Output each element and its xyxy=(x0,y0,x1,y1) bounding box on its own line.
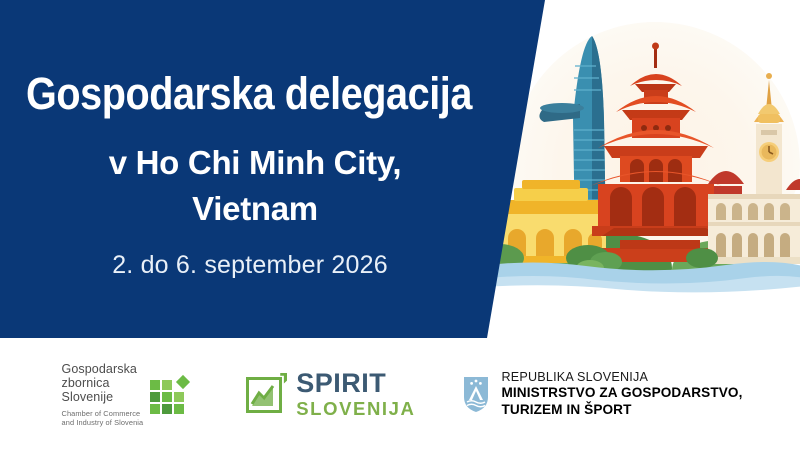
gzs-line-3: Slovenije xyxy=(62,390,144,404)
gzs-sub-2: and Industry of Slovenia xyxy=(62,418,144,427)
ministry-line-1: REPUBLIKA SLOVENIJA xyxy=(502,370,743,385)
ministry-line-3: TURIZEM IN ŠPORT xyxy=(502,402,743,419)
red-pagoda-icon xyxy=(590,43,728,263)
spirit-chart-icon xyxy=(246,373,289,416)
gzs-logo: Gospodarska zbornica Slovenije Chamber o… xyxy=(62,362,191,427)
gzs-line-1: Gospodarska xyxy=(62,362,144,376)
spirit-subwordmark: SLOVENIJA xyxy=(296,400,415,419)
subtitle-line-2: Vietnam xyxy=(0,186,510,232)
city-hall-icon xyxy=(706,73,800,264)
event-banner: Gospodarska delegacija v Ho Chi Minh Cit… xyxy=(0,0,800,450)
spirit-slovenija-logo: SPIRIT SLOVENIJA xyxy=(246,370,415,419)
page-title: Gospodarska delegacija xyxy=(26,68,466,120)
event-date: 2. do 6. september 2026 xyxy=(0,248,500,282)
gzs-squares-icon xyxy=(148,375,190,415)
partner-logo-strip: Gospodarska zbornica Slovenije Chamber o… xyxy=(0,338,800,450)
gzs-line-2: zbornica xyxy=(62,376,144,390)
gzs-sub-1: Chamber of Commerce xyxy=(62,409,144,418)
ministry-line-2: MINISTRSTVO ZA GOSPODARSTVO, xyxy=(502,385,743,402)
page-subtitle: v Ho Chi Minh City, Vietnam xyxy=(0,140,510,232)
spirit-wordmark: SPIRIT xyxy=(296,370,415,397)
ministry-logo: REPUBLIKA SLOVENIJA MINISTRSTVO ZA GOSPO… xyxy=(462,370,743,418)
subtitle-line-1: v Ho Chi Minh City, xyxy=(0,140,510,186)
slovenia-coat-of-arms-icon xyxy=(462,375,490,413)
